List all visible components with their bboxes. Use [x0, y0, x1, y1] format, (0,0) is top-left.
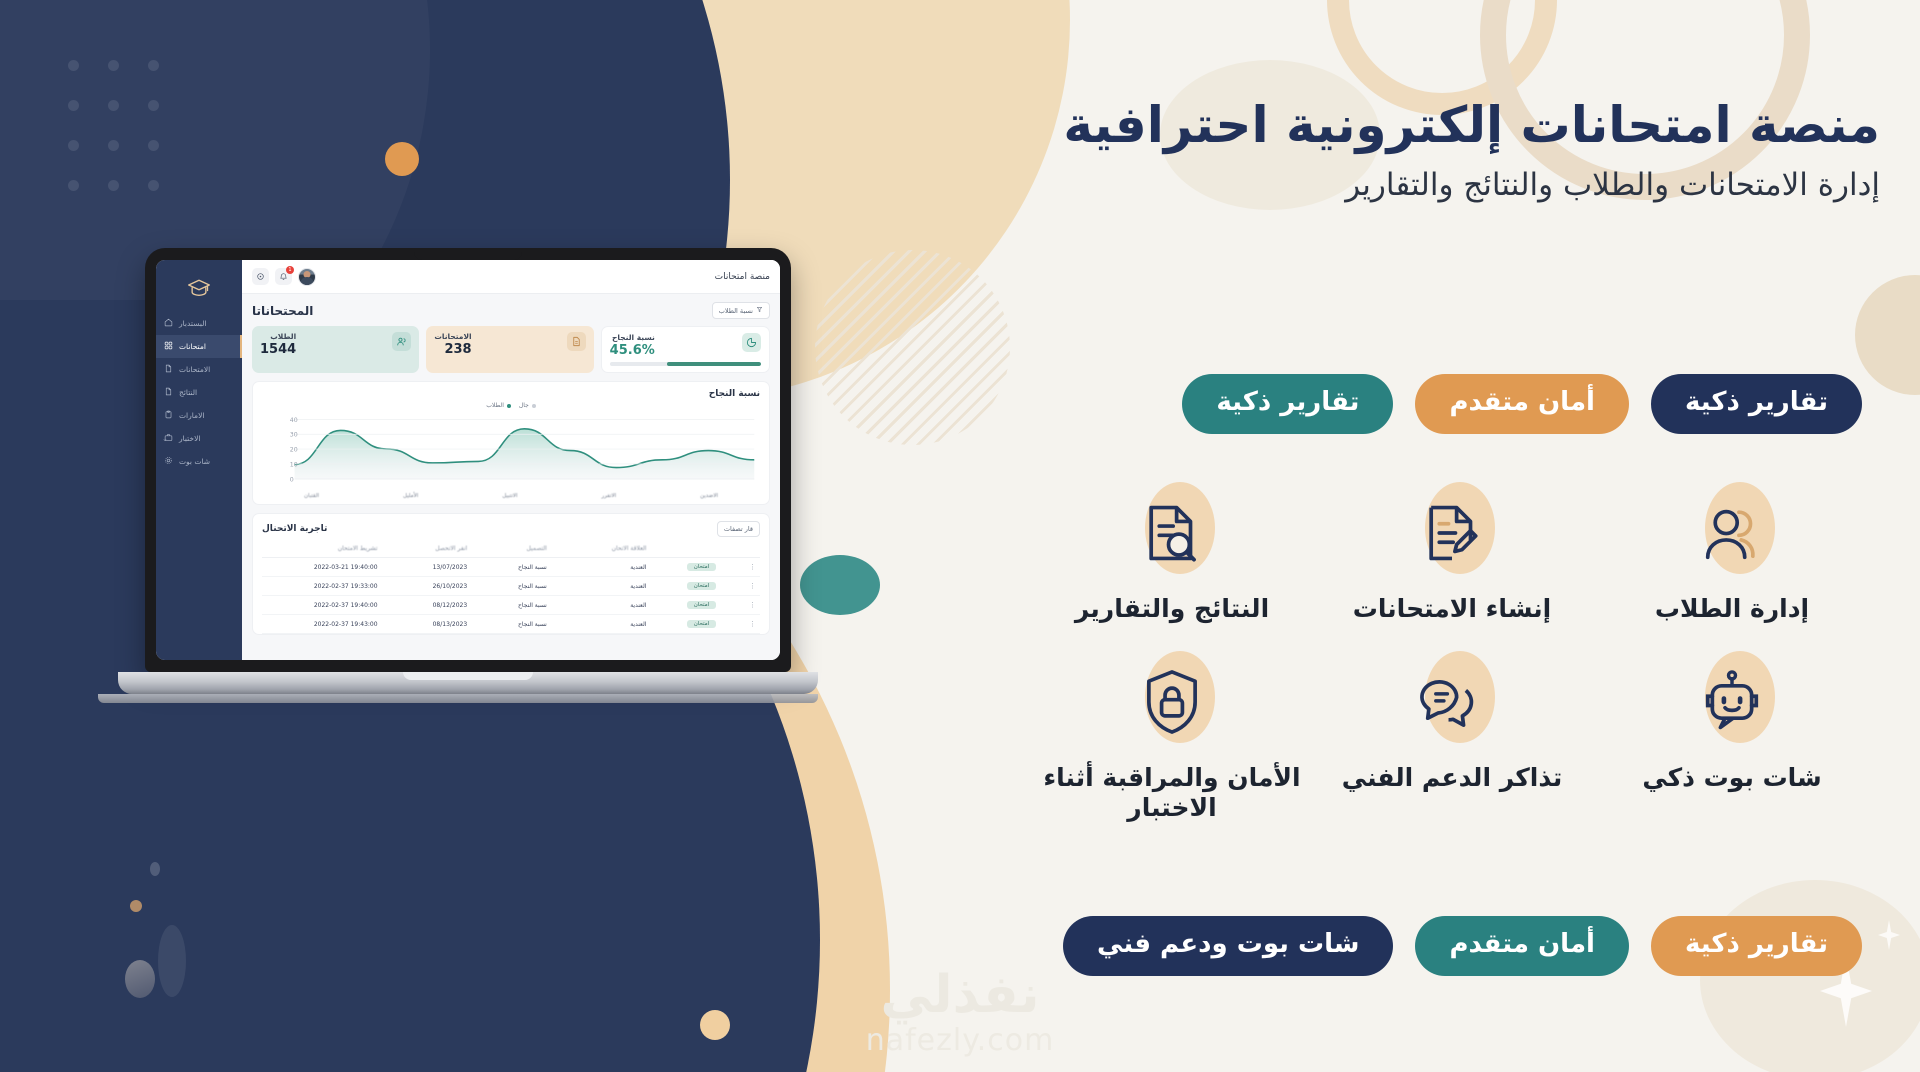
bubble-decoration-2	[130, 900, 142, 912]
stat-label: الطلاب	[260, 332, 296, 341]
topbar-actions: 1	[252, 268, 316, 286]
col-status	[650, 540, 720, 558]
stat-value: 1544	[260, 342, 296, 357]
laptop-base-edge	[98, 694, 818, 703]
clipboard-icon	[164, 410, 173, 421]
feature-label: الأمان والمراقبة أثناء الاختبار	[1032, 763, 1312, 824]
row-relation: العندية	[551, 558, 651, 577]
area-chart: 010203040	[262, 410, 760, 492]
notification-badge: 1	[286, 266, 294, 274]
sidebar-item-test[interactable]: ⌄ الاختبار	[156, 427, 242, 450]
laptop-lid: البستدبار امتحانات	[145, 248, 791, 672]
svg-text:20: 20	[290, 447, 298, 454]
avatar[interactable]	[298, 268, 316, 286]
watermark-arabic: نفذلي	[866, 969, 1055, 1021]
sidebar-item-exams-list[interactable]: الامتحانات	[156, 358, 242, 381]
gear-icon	[164, 456, 173, 467]
feature-label: إدارة الطلاب	[1592, 594, 1872, 625]
soft-blob-bottom-right	[1700, 880, 1920, 1072]
feature-label: تذاكر الدعم الفني	[1312, 763, 1592, 794]
pill-smart-reports-navy[interactable]: تقارير ذكية	[1651, 374, 1862, 434]
row-exam-id: 2022-02-37 19:43:00	[262, 615, 382, 634]
sidebar-item-label: شات بوت	[179, 457, 210, 466]
pill-chatbot-support[interactable]: شات بوت ودعم فني	[1063, 916, 1393, 976]
svg-text:0: 0	[290, 476, 294, 483]
app-brand-name: منصة امتحانات	[715, 272, 770, 282]
sidebar-item-dashboard[interactable]: البستدبار	[156, 312, 242, 335]
bubble-decoration-4	[158, 925, 186, 997]
row-exam-id: 2022-02-37 19:40:00	[262, 596, 382, 615]
table-row[interactable]: ⋮امتحانالعنديةنسبة النجاح13/07/20232022-…	[262, 558, 760, 577]
dashboard-screen: البستدبار امتحانات	[156, 260, 780, 660]
dashboard-header-row: نسبة الطلاب المحتحاناتا	[252, 302, 770, 319]
dashboard-content: نسبة الطلاب المحتحاناتا نسبة النجاح 45.6…	[242, 294, 780, 660]
col-exam-id: تشريط الامتحان	[262, 540, 382, 558]
sidebar-item-label: النتائج	[179, 388, 197, 397]
row-exam-id: 2022-02-37 19:33:00	[262, 577, 382, 596]
row-date: 26/10/2023	[382, 577, 472, 596]
col-detail: التصميل	[471, 540, 551, 558]
sand-dot-decoration	[700, 1010, 730, 1040]
row-detail: نسبة النجاح	[471, 596, 551, 615]
row-status: امتحان	[650, 558, 720, 577]
page-title: منصة امتحانات إلكترونية احترافية	[1000, 96, 1880, 155]
sidebar-item-label: البستدبار	[179, 319, 207, 328]
col-date: انفر الاتحصل	[382, 540, 472, 558]
sidebar-item-label: امتحانات	[179, 342, 206, 351]
page-subtitle: إدارة الامتحانات والطلاب والنتائج والتقا…	[1000, 167, 1880, 203]
row-menu[interactable]: ⋮	[720, 558, 760, 577]
students-filter-chip[interactable]: نسبة الطلاب	[712, 302, 770, 319]
chart-legend: جال الطلاب	[262, 402, 760, 409]
chart-title: نسبة النجاح	[262, 389, 760, 399]
shield-lock-icon	[1117, 647, 1227, 757]
file-icon	[164, 364, 173, 375]
grid-icon	[164, 341, 173, 352]
laptop-mockup: البستدبار امتحانات	[118, 248, 818, 703]
feature-exam-security[interactable]: الأمان والمراقبة أثناء الاختبار	[1032, 647, 1312, 824]
svg-text:30: 30	[290, 432, 298, 439]
col-menu	[720, 540, 760, 558]
settings-button[interactable]	[252, 268, 269, 285]
row-exam-id: 2022-03-21 19:40:00	[262, 558, 382, 577]
exam-history-card: قار تصفات تاجربة الاتحنال العلاقة الاتحا…	[252, 513, 770, 635]
feature-label: شات بوت ذكي	[1592, 763, 1872, 794]
laptop-notch	[414, 248, 522, 260]
feature-pill-row-top: تقارير ذكية أمان متقدم تقارير ذكية	[1182, 374, 1862, 434]
stat-card-exams[interactable]: الامتحانات 238	[426, 326, 593, 373]
chart-x-tick: الاتفرر	[601, 493, 616, 499]
file-icon	[164, 387, 173, 398]
laptop-base	[118, 672, 818, 694]
sparkle-small-icon	[1878, 920, 1900, 950]
exam-history-table: العلاقة الاتحان التصميل انفر الاتحصل تشر…	[262, 540, 760, 634]
row-date: 08/13/2023	[382, 615, 472, 634]
orange-dot-decoration	[385, 142, 419, 176]
chat-bubbles-icon	[1397, 647, 1507, 757]
table-row[interactable]: ⋮امتحانالعنديةنسبة النجاح08/13/20232022-…	[262, 615, 760, 634]
chevron-down-icon: ⌄	[162, 435, 168, 443]
row-status: امتحان	[650, 615, 720, 634]
chart-x-tick: الاتتبيل	[502, 493, 517, 499]
feature-create-exams[interactable]: إنشاء الامتحانات	[1312, 478, 1592, 625]
row-detail: نسبة النجاح	[471, 615, 551, 634]
table-row[interactable]: ⋮امتحانالعنديةنسبة النجاح08/12/20232022-…	[262, 596, 760, 615]
row-status: امتحان	[650, 596, 720, 615]
pill-advanced-security[interactable]: أمان متقدم	[1415, 374, 1629, 434]
chart-x-tick-labels: الاضدينالاتفررالاتتبيلالأمليلالقتبان	[262, 493, 760, 499]
chart-x-tick: الأمليل	[403, 493, 418, 499]
sidebar-item-reports[interactable]: الامارات	[156, 404, 242, 427]
table-header-row: العلاقة الاتحان التصميل انفر الاتحصل تشر…	[262, 540, 760, 558]
dashboard-sidebar: البستدبار امتحانات	[156, 260, 242, 660]
sidebar-item-exams[interactable]: امتحانات	[156, 335, 242, 358]
row-menu[interactable]: ⋮	[720, 596, 760, 615]
document-search-icon	[1117, 478, 1227, 588]
bubble-decoration-1	[125, 960, 155, 998]
filter-icon	[756, 306, 763, 315]
chip-label: نسبة الطلاب	[719, 307, 753, 315]
pie-chart-icon	[742, 333, 761, 352]
legend-label: الطلاب	[486, 402, 504, 409]
stat-card-success-rate[interactable]: نسبة النجاح 45.6%	[601, 326, 770, 373]
success-rate-chart-card: نسبة النجاح جال الطلاب	[252, 381, 770, 505]
row-date: 08/12/2023	[382, 596, 472, 615]
bubble-decoration-3	[150, 862, 160, 876]
legend-item-primary: الطلاب	[486, 402, 511, 409]
sidebar-item-label: الاختبار	[179, 434, 200, 443]
row-relation: العندية	[551, 596, 651, 615]
pill-smart-reports-bottom[interactable]: تقارير ذكية	[1651, 916, 1862, 976]
dashboard-topbar: منصة امتحانات 1	[242, 260, 780, 294]
striped-circle-decoration	[815, 250, 1010, 445]
sidebar-item-label: الامتحانات	[179, 365, 210, 374]
table-row[interactable]: ⋮امتحانالعنديةنسبة النجاح26/10/20232022-…	[262, 577, 760, 596]
hero-text-block: منصة امتحانات إلكترونية احترافية إدارة ا…	[1000, 96, 1880, 203]
feature-label: إنشاء الامتحانات	[1312, 594, 1592, 625]
stat-label: نسبة النجاح	[610, 333, 655, 342]
row-detail: نسبة النجاح	[471, 577, 551, 596]
feature-results-reports[interactable]: النتائج والتقارير	[1032, 478, 1312, 625]
stat-value: 45.6%	[610, 343, 655, 358]
feature-support-tickets[interactable]: تذاكر الدعم الفني	[1312, 647, 1592, 824]
watermark-latin: nafezly.com	[866, 1023, 1055, 1058]
feature-grid: إدارة الطلاب إنشاء الامتحانات	[1032, 478, 1872, 824]
feature-students-management[interactable]: إدارة الطلاب	[1592, 478, 1872, 625]
stat-card-row: نسبة النجاح 45.6% الامتحانات	[252, 326, 770, 373]
row-date: 13/07/2023	[382, 558, 472, 577]
watermark: نفذلي nafezly.com	[866, 969, 1055, 1058]
robot-icon	[1677, 647, 1787, 757]
chart-x-tick: القتبان	[304, 493, 319, 499]
pill-advanced-security-bottom[interactable]: أمان متقدم	[1415, 916, 1629, 976]
dashboard-main: منصة امتحانات 1	[242, 260, 780, 660]
sidebar-item-results[interactable]: النتائج	[156, 381, 242, 404]
sidebar-item-chatbot[interactable]: شات بوت	[156, 450, 242, 473]
home-icon	[164, 318, 173, 329]
row-menu[interactable]: ⋮	[720, 577, 760, 596]
svg-text:10: 10	[290, 461, 298, 468]
table-filter-chip[interactable]: قار تصفات	[717, 521, 760, 537]
users-icon	[1677, 478, 1787, 588]
stat-value: 238	[434, 342, 471, 357]
decorative-circle-right	[1855, 275, 1920, 395]
poster-canvas: منصة امتحانات إلكترونية احترافية إدارة ا…	[0, 0, 1920, 1072]
sidebar-item-label: الامارات	[179, 411, 204, 420]
stat-label: الامتحانات	[434, 332, 471, 341]
stat-card-students[interactable]: الطلاب 1544	[252, 326, 419, 373]
row-detail: نسبة النجاح	[471, 558, 551, 577]
users-icon	[392, 332, 411, 351]
dashboard-page-title: المحتحاناتا	[252, 304, 313, 318]
feature-pill-row-bottom: تقارير ذكية أمان متقدم شات بوت ودعم فني	[1063, 916, 1862, 976]
file-icon	[567, 332, 586, 351]
row-relation: العندية	[551, 577, 651, 596]
chart-axis: 010203040	[262, 410, 760, 492]
row-relation: العندية	[551, 615, 651, 634]
row-menu[interactable]: ⋮	[720, 615, 760, 634]
table-title: تاجربة الاتحنال	[262, 524, 327, 534]
chart-x-tick: الاضدين	[700, 493, 718, 499]
svg-text:40: 40	[290, 417, 298, 424]
legend-label: جال	[519, 402, 529, 409]
feature-smart-chatbot[interactable]: شات بوت ذكي	[1592, 647, 1872, 824]
document-edit-icon	[1397, 478, 1507, 588]
pill-smart-reports-teal[interactable]: تقارير ذكية	[1182, 374, 1393, 434]
notifications-button[interactable]: 1	[275, 268, 292, 285]
graduation-cap-icon	[156, 268, 242, 312]
feature-label: النتائج والتقارير	[1032, 594, 1312, 625]
row-status: امتحان	[650, 577, 720, 596]
dot-grid-decoration	[68, 60, 188, 180]
col-relation: العلاقة الاتحان	[551, 540, 651, 558]
legend-item-secondary: جال	[519, 402, 536, 409]
success-progress-bar	[610, 362, 761, 366]
